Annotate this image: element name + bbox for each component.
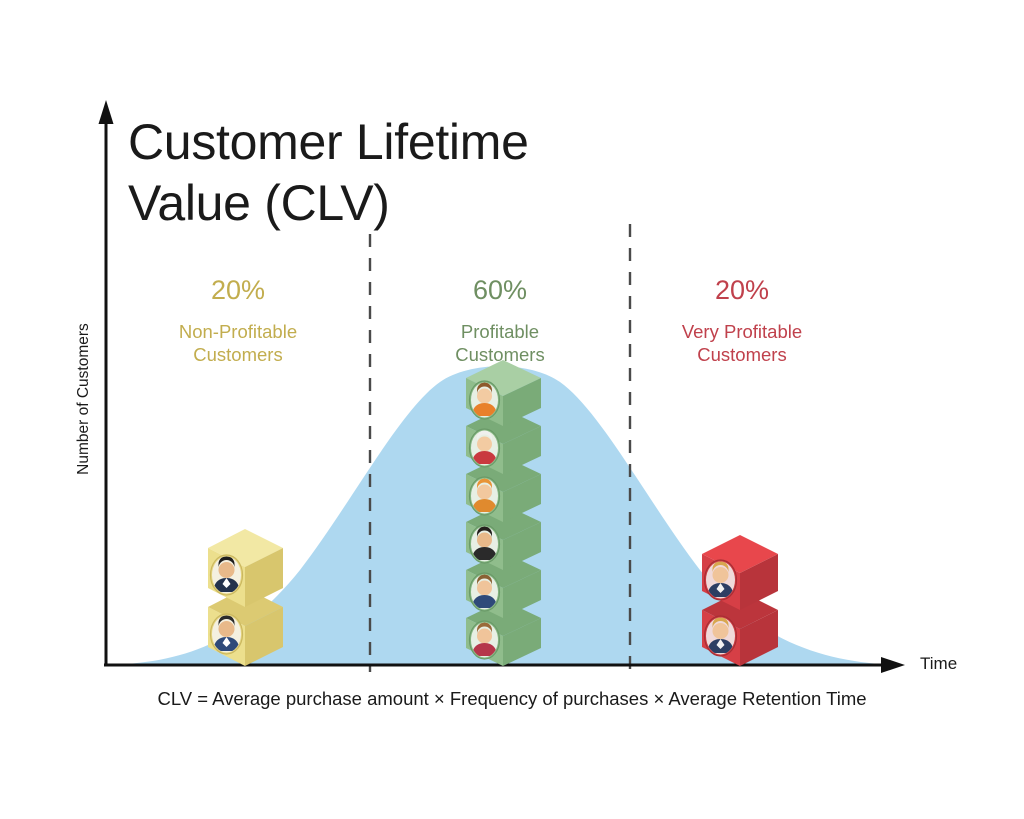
segment-label-profitable: 60% Profitable Customers [414,274,586,366]
segment-label-very-profitable: 20% Very Profitable Customers [654,274,830,366]
page-title: Customer Lifetime Value (CLV) [128,112,688,234]
stack-non-profitable [208,529,283,666]
segment-name: Profitable Customers [414,320,586,366]
segment-name: Very Profitable Customers [654,320,830,366]
segment-label-non-profitable: 20% Non-Profitable Customers [152,274,324,366]
segment-name: Non-Profitable Customers [152,320,324,366]
clv-formula: CLV = Average purchase amount × Frequenc… [0,688,1024,710]
clv-diagram: Customer Lifetime Value (CLV) 20% Non-Pr… [0,0,1024,819]
y-axis [99,100,114,666]
x-axis-label: Time [920,654,957,674]
y-axis-arrow-icon [99,100,114,124]
x-axis-arrow-icon [881,657,905,673]
y-axis-label: Number of Customers [75,279,93,519]
segment-percent: 60% [414,274,586,308]
segment-percent: 20% [654,274,830,308]
segment-percent: 20% [152,274,324,308]
person-box [208,529,283,607]
